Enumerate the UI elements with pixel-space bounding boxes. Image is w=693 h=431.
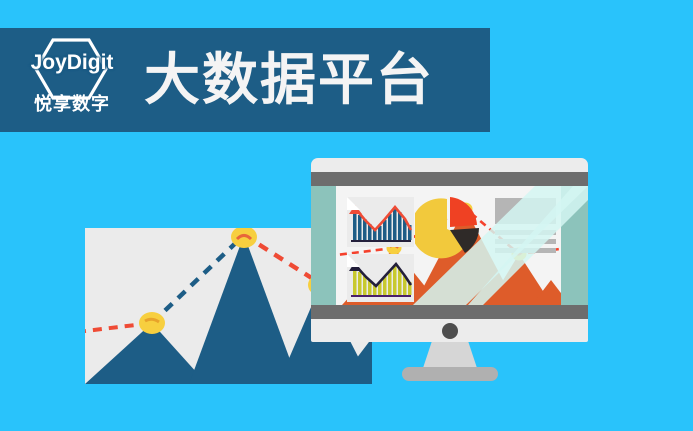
placeholder-image-block bbox=[495, 198, 556, 224]
header-banner: JoyDigit 悦享数字 大数据平台 bbox=[0, 28, 490, 132]
monitor-screen[interactable] bbox=[311, 186, 588, 305]
mini-chart-bar-line-olive bbox=[347, 254, 414, 302]
report-placeholder[interactable] bbox=[495, 198, 556, 253]
screen-right-band bbox=[561, 186, 588, 305]
brand-wordmark: JoyDigit bbox=[31, 52, 114, 73]
pie-slice-b[interactable] bbox=[450, 197, 477, 227]
mini-chart-bar-line-blue bbox=[347, 197, 414, 247]
brand-logo[interactable]: JoyDigit 悦享数字 bbox=[12, 36, 132, 124]
placeholder-text-line bbox=[495, 248, 556, 253]
pie-chart[interactable] bbox=[415, 195, 483, 263]
mini-axis-line bbox=[351, 240, 411, 242]
monitor-stand-neck bbox=[423, 342, 477, 368]
screen-left-band bbox=[311, 186, 336, 305]
placeholder-text-line bbox=[495, 230, 556, 235]
monitor-top-bar bbox=[311, 172, 588, 186]
camera-dot-icon bbox=[442, 323, 458, 339]
monitor-stand-base bbox=[402, 367, 498, 381]
brand-subtitle: 悦享数字 bbox=[34, 95, 110, 113]
placeholder-text-line bbox=[495, 239, 556, 244]
mini-axis-line bbox=[351, 295, 411, 297]
desktop-monitor bbox=[311, 158, 588, 384]
mini-chart-bar-line-blue-card[interactable] bbox=[347, 197, 414, 247]
monitor-bottom-bar bbox=[311, 305, 588, 319]
page-title: 大数据平台 bbox=[144, 52, 434, 108]
mini-chart-bar-line-olive-card[interactable] bbox=[347, 254, 414, 302]
poster-canvas: JoyDigit 悦享数字 大数据平台 bbox=[0, 0, 693, 431]
data-node-1[interactable] bbox=[139, 312, 165, 334]
